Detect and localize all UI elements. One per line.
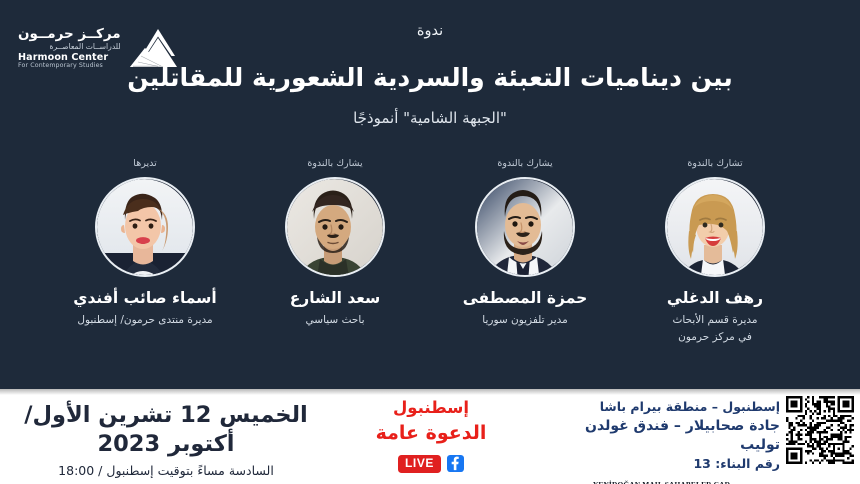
poster-root: مركــز حرمــون للدراســات المعاصــرة Har…	[0, 0, 860, 484]
speakers-row: تديرها	[0, 158, 860, 345]
speaker-role: باحث سياسي	[306, 313, 365, 328]
speaker-photo-hamza	[477, 179, 573, 275]
address-turkish-line1: YENİDOĞAN MAH. SAHABELER CAD.	[545, 480, 780, 484]
address-arabic-line3: رقم البناء: 13	[545, 456, 780, 473]
page-subtitle: "الجبهة الشامية" أنموذجًا	[0, 108, 860, 129]
event-kicker: ندوة	[0, 22, 860, 41]
speaker-name: أسماء صائب أفندي	[73, 289, 216, 308]
speaker-role: مديرة قسم الأبحاث	[672, 313, 757, 328]
event-date: الخميس 12 تشرين الأول/ أكتوبر 2023	[6, 401, 326, 459]
speaker-role: مديرة منتدى حرمون/ إسطنبول	[77, 313, 212, 328]
facebook-live-row[interactable]: LIVE	[336, 455, 526, 473]
speaker-photo-asmaa	[97, 179, 193, 275]
speaker-role-tag: يشارك بالندوة	[497, 158, 552, 170]
invite-city: إسطنبول	[336, 397, 526, 418]
speaker-role: مدير تلفزيون سوريا	[482, 313, 568, 328]
speaker-role-tag: يشارك بالندوة	[307, 158, 362, 170]
event-date-block: الخميس 12 تشرين الأول/ أكتوبر 2023 الساد…	[6, 401, 326, 479]
headline-block: ندوة بين ديناميات التعبئة والسردية الشعو…	[0, 22, 860, 129]
speaker-name: رهف الدغلي	[667, 289, 763, 308]
speaker-photo-rahaf	[667, 179, 763, 275]
speaker-card-hamza: يشارك بالندوة	[430, 158, 620, 329]
facebook-icon[interactable]	[447, 455, 464, 472]
speaker-card-asmaa: تديرها	[50, 158, 240, 329]
invite-open-label: الدعوة عامة	[336, 421, 526, 446]
avatar	[285, 177, 385, 277]
avatar	[475, 177, 575, 277]
footer-panel: الخميس 12 تشرين الأول/ أكتوبر 2023 الساد…	[0, 389, 860, 484]
speaker-card-rahaf: تشارك بالندوة	[620, 158, 810, 345]
speaker-role-tag: تديرها	[133, 158, 156, 170]
page-title: بين ديناميات التعبئة والسردية الشعورية ل…	[0, 61, 860, 95]
speaker-role-tag: تشارك بالندوة	[687, 158, 742, 170]
speaker-card-saad: يشارك بالندوة	[240, 158, 430, 329]
venue-address-block: إسطنبول – منطقة بيرام باشا جادة صحابيلار…	[545, 399, 780, 484]
speaker-name: سعد الشارع	[290, 289, 381, 308]
live-badge: LIVE	[398, 455, 441, 473]
avatar	[665, 177, 765, 277]
address-arabic-line2: جادة صحابيلار – فندق غولدن توليب	[545, 417, 780, 455]
speaker-photo-saad	[287, 179, 383, 275]
invitation-block: إسطنبول الدعوة عامة LIVE	[336, 397, 526, 473]
dark-panel: مركــز حرمــون للدراســات المعاصــرة Har…	[0, 0, 860, 389]
avatar	[95, 177, 195, 277]
address-arabic-line1: إسطنبول – منطقة بيرام باشا	[545, 399, 780, 416]
speaker-name: حمزة المصطفى	[463, 289, 587, 308]
qr-code-svg	[786, 396, 854, 464]
qr-code-icon[interactable]	[786, 396, 854, 464]
speaker-role-second-line: في مركز حرمون	[678, 330, 752, 345]
event-time: السادسة مساءً بتوقيت إسطنبول / 18:00	[6, 463, 326, 479]
